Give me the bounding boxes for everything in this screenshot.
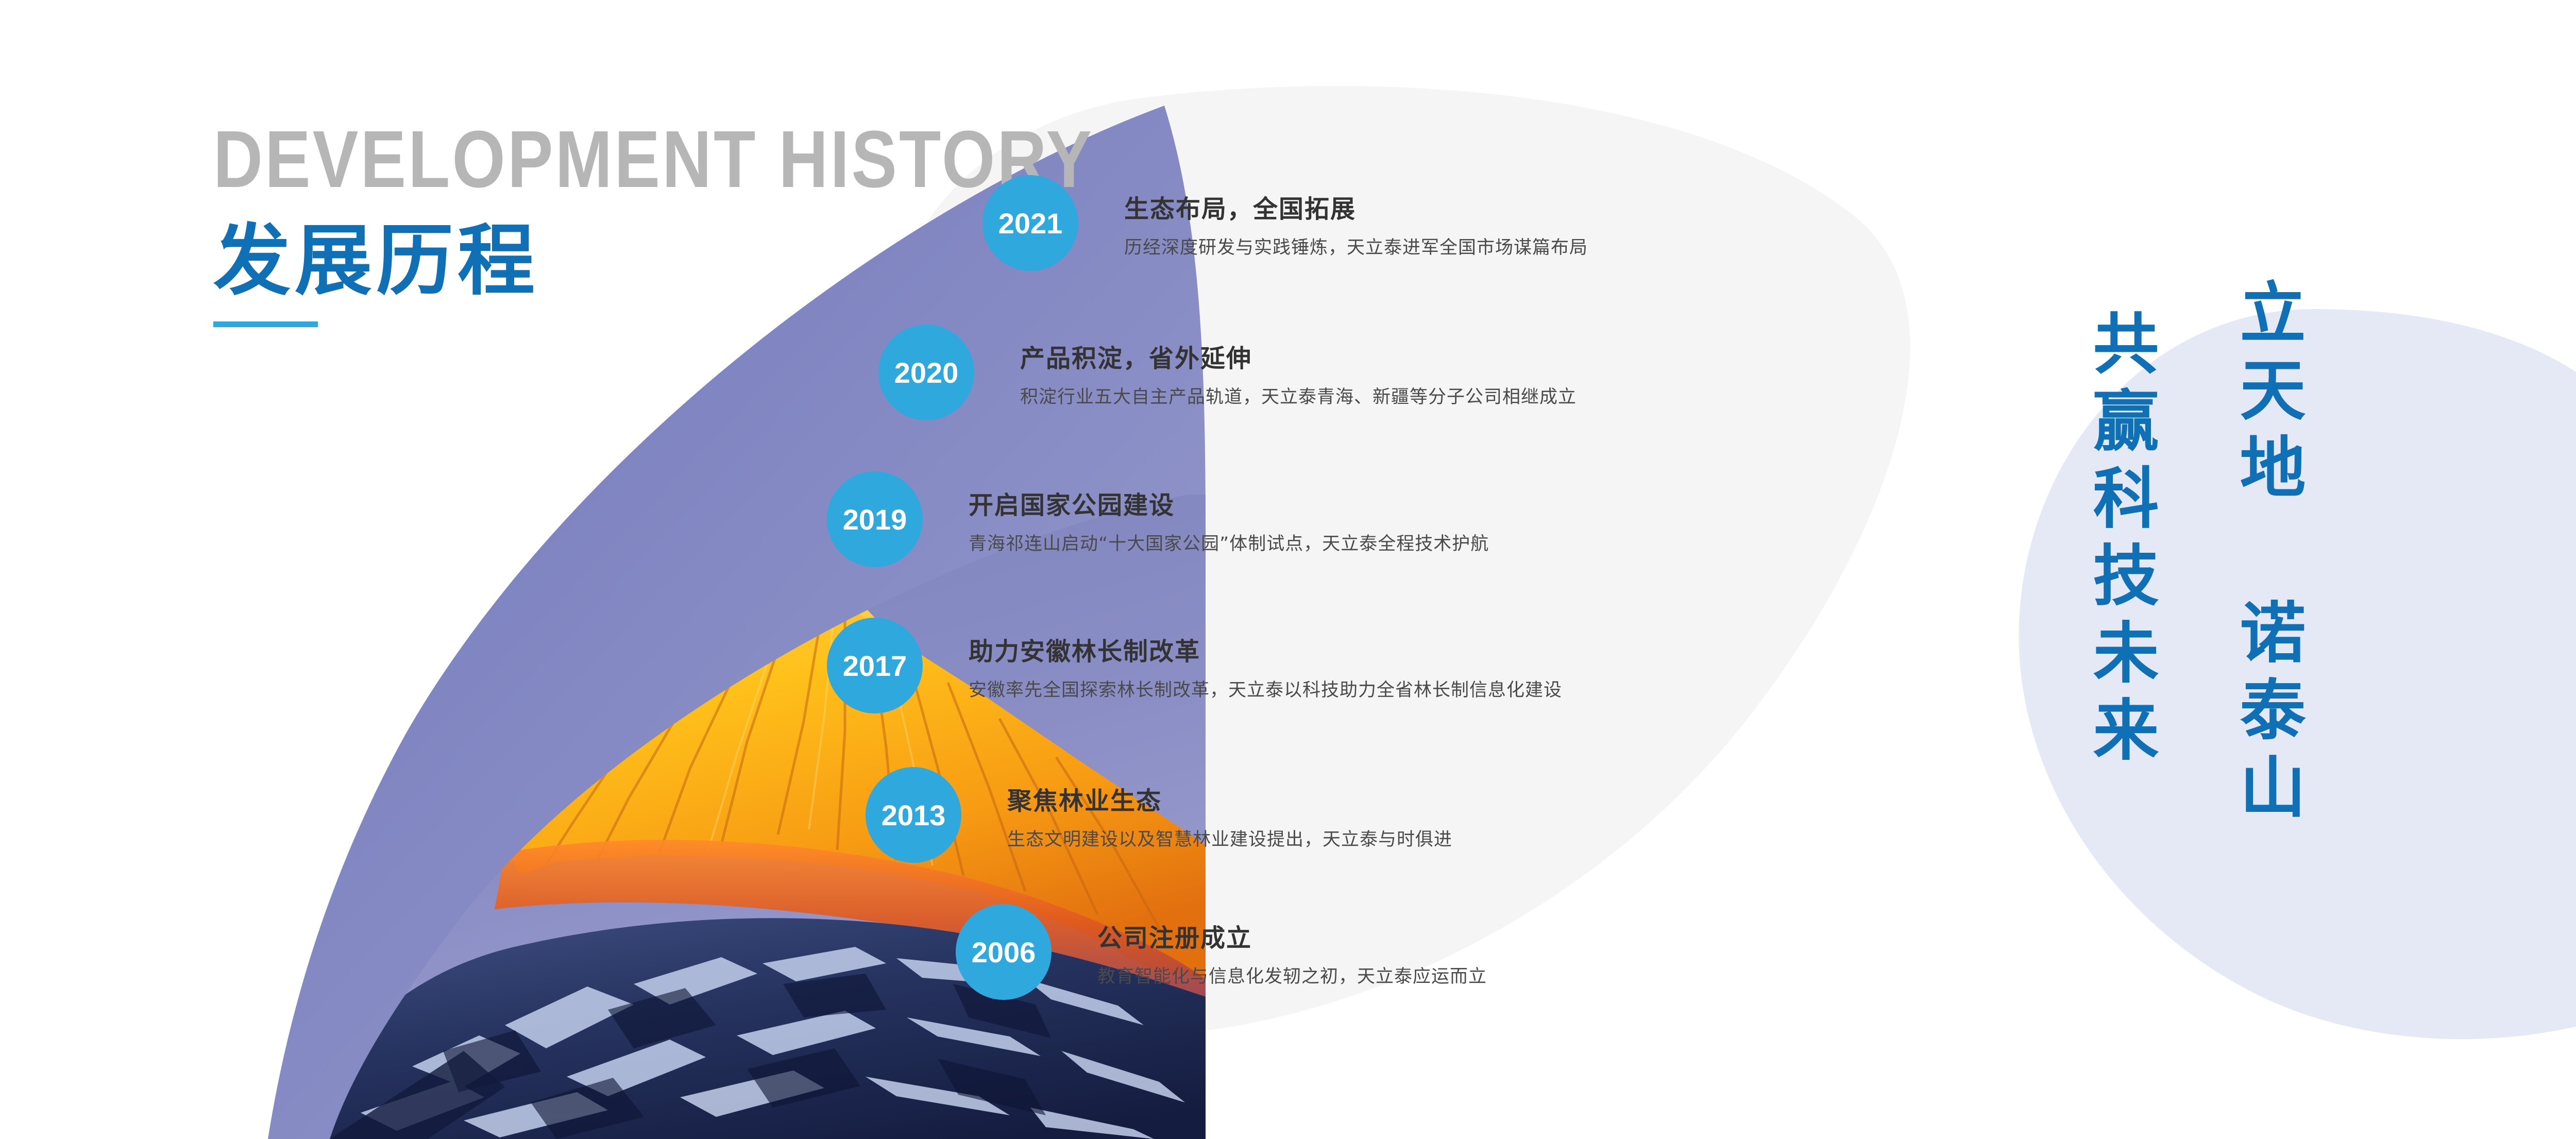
year-badge-2019[interactable]: 2019 — [827, 471, 923, 567]
slogan-right-column: 立天地 诺泰山 — [2233, 278, 2299, 830]
timeline-title: 开启国家公园建设 — [969, 485, 1489, 521]
timeline-desc: 安徽率先全国探索林长制改革，天立泰以科技助力全省林长制信息化建设 — [969, 675, 1562, 702]
timeline-title: 公司注册成立 — [1097, 917, 1487, 954]
timeline-title: 聚焦林业生态 — [1007, 780, 1452, 817]
year-badge-2020[interactable]: 2020 — [878, 325, 974, 420]
year-badge-2006[interactable]: 2006 — [956, 904, 1052, 1000]
timeline-title: 产品积淀，省外延伸 — [1020, 338, 1577, 374]
slide-canvas: DEVELOPMENT HISTORY 发展历程 2021 生态布局，全国拓展 … — [0, 0, 2576, 1139]
year-badge-label: 2017 — [843, 649, 907, 683]
timeline-desc: 青海祁连山启动“十大国家公园”体制试点，天立泰全程技术护航 — [969, 529, 1489, 555]
year-badge-2021[interactable]: 2021 — [982, 175, 1078, 271]
timeline-title: 生态布局，全国拓展 — [1124, 189, 1588, 225]
year-badge-label: 2013 — [882, 798, 946, 832]
year-badge-label: 2006 — [972, 936, 1036, 969]
timeline-title: 助力安徽林长制改革 — [969, 631, 1562, 667]
year-badge-label: 2021 — [998, 207, 1063, 240]
timeline-desc: 教育智能化与信息化发轫之初，天立泰应运而立 — [1097, 962, 1487, 988]
year-badge-label: 2020 — [894, 356, 959, 389]
year-badge-label: 2019 — [843, 503, 907, 536]
timeline: 2021 生态布局，全国拓展 历经深度研发与实践锤炼，天立泰进军全国市场谋篇布局… — [0, 0, 2576, 1139]
timeline-desc: 历经深度研发与实践锤炼，天立泰进军全国市场谋篇布局 — [1124, 233, 1588, 259]
timeline-desc: 生态文明建设以及智慧林业建设提出，天立泰与时俱进 — [1007, 825, 1452, 851]
year-badge-2017[interactable]: 2017 — [827, 618, 923, 713]
year-badge-2013[interactable]: 2013 — [866, 767, 961, 863]
slogan-left-column: 共赢科技未来 — [2087, 309, 2153, 773]
timeline-desc: 积淀行业五大自主产品轨道，天立泰青海、新疆等分子公司相继成立 — [1020, 382, 1577, 409]
